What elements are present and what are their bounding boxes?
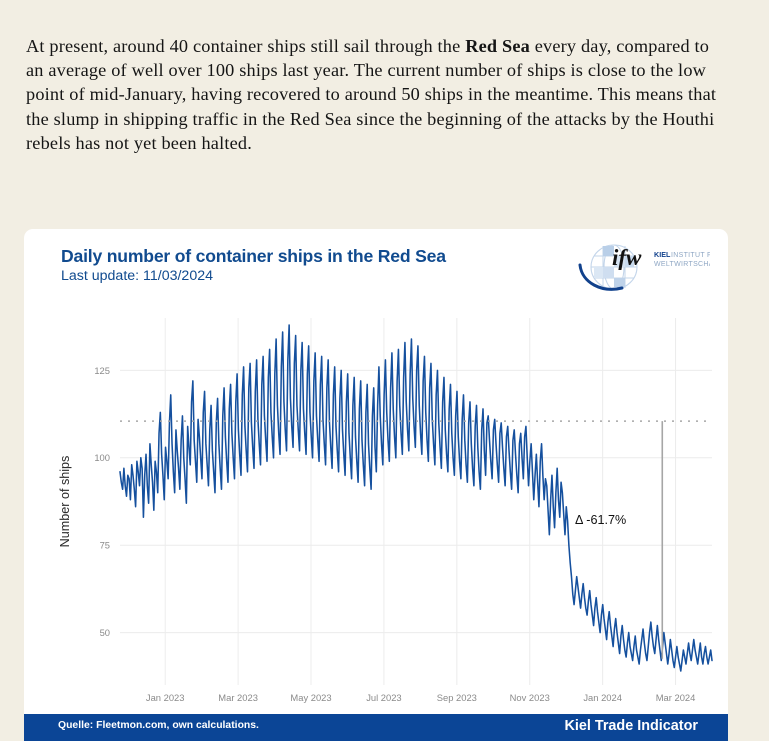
- line-chart-svg: 5075100125 Jan 2023Mar 2023May 2023Jul 2…: [24, 301, 728, 714]
- logo-institut-text: INSTITUT FÜR: [671, 251, 710, 259]
- chart-subtitle: Last update: 11/03/2024: [61, 268, 213, 284]
- article-paragraph: At present, around 40 container ships st…: [26, 34, 720, 155]
- y-tick-label: 75: [100, 540, 110, 551]
- logo-weltwirtschaft-text: WELTWIRTSCHAFT: [654, 261, 710, 268]
- x-tick-labels-group: Jan 2023Mar 2023May 2023Jul 2023Sep 2023…: [146, 692, 695, 703]
- x-tick-label: Jul 2023: [366, 692, 401, 703]
- logo-kiel-text: KIEL: [654, 250, 671, 259]
- paragraph-emphasis: Red Sea: [465, 36, 530, 56]
- x-tick-label: Sep 2023: [437, 692, 477, 703]
- vertical-gridlines-group: [165, 318, 675, 685]
- x-tick-label: Mar 2023: [218, 692, 258, 703]
- article-paragraph-block: At present, around 40 container ships st…: [26, 34, 720, 155]
- chart-card-footer: Quelle: Fleetmon.com, own calculations. …: [24, 714, 728, 741]
- logo-svg: ifw KIEL INSTITUT FÜR WELTWIRTSCHAFT: [572, 243, 710, 293]
- footer-source-text: Quelle: Fleetmon.com, own calculations.: [58, 720, 259, 731]
- chart-title: Daily number of container ships in the R…: [61, 246, 446, 267]
- y-tick-labels-group: 5075100125: [94, 365, 110, 638]
- y-tick-label: 50: [100, 627, 110, 638]
- x-tick-label: Jan 2023: [146, 692, 185, 703]
- y-tick-label: 125: [94, 365, 110, 376]
- ifw-kiel-logo: ifw KIEL INSTITUT FÜR WELTWIRTSCHAFT: [572, 243, 710, 293]
- x-tick-label: Mar 2024: [656, 692, 696, 703]
- y-tick-label: 100: [94, 452, 110, 463]
- footer-brand-text: Kiel Trade Indicator: [564, 718, 698, 734]
- paragraph-prefix: At present, around 40 container ships st…: [26, 36, 465, 56]
- chart-card-header: Daily number of container ships in the R…: [24, 229, 728, 301]
- chart-card: Daily number of container ships in the R…: [24, 229, 728, 741]
- y-axis-title: Number of ships: [58, 456, 72, 548]
- logo-wordmark: ifw: [612, 245, 642, 270]
- x-tick-label: Nov 2023: [510, 692, 550, 703]
- chart-plot-area: 5075100125 Jan 2023Mar 2023May 2023Jul 2…: [24, 301, 728, 714]
- series-line-ships: [120, 325, 712, 671]
- x-tick-label: Jan 2024: [583, 692, 622, 703]
- x-tick-label: May 2023: [290, 692, 331, 703]
- delta-label: Δ -61.7%: [575, 513, 626, 527]
